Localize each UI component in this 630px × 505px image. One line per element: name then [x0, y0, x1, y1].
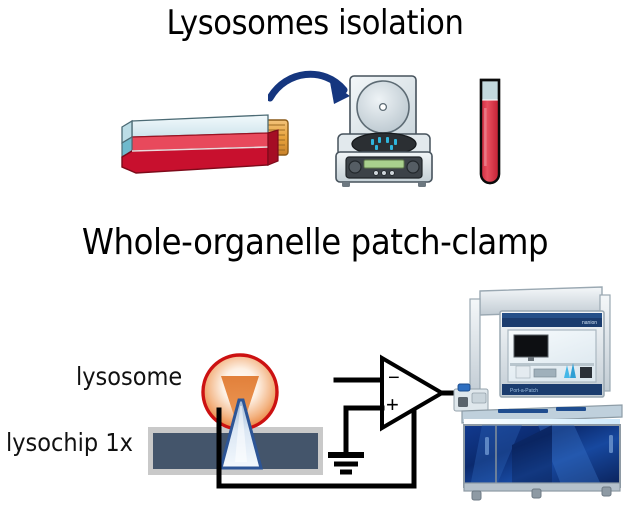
amplifier-circuit: − + — [196, 350, 456, 498]
svg-text:nanion: nanion — [582, 320, 597, 326]
patch-clamp-workstation-icon: nanion Port-a-Patch — [452, 285, 630, 505]
centrifuge-icon — [328, 72, 438, 190]
label-lysochip: lysochip 1x — [6, 428, 133, 457]
section-title-lysosomes-isolation: Lysosomes isolation — [0, 3, 630, 43]
figure-canvas: Lysosomes isolation — [0, 0, 630, 505]
svg-text:Port-a-Patch: Port-a-Patch — [510, 388, 538, 394]
test-tube-icon — [470, 78, 510, 190]
section-title-whole-organelle-patch-clamp: Whole-organelle patch-clamp — [0, 222, 630, 263]
amplifier-inverting-input-label: − — [388, 368, 400, 388]
ground-symbol-icon — [328, 455, 364, 472]
label-lysosome: lysosome — [76, 362, 182, 391]
amplifier-noninverting-input-label: + — [386, 394, 399, 416]
